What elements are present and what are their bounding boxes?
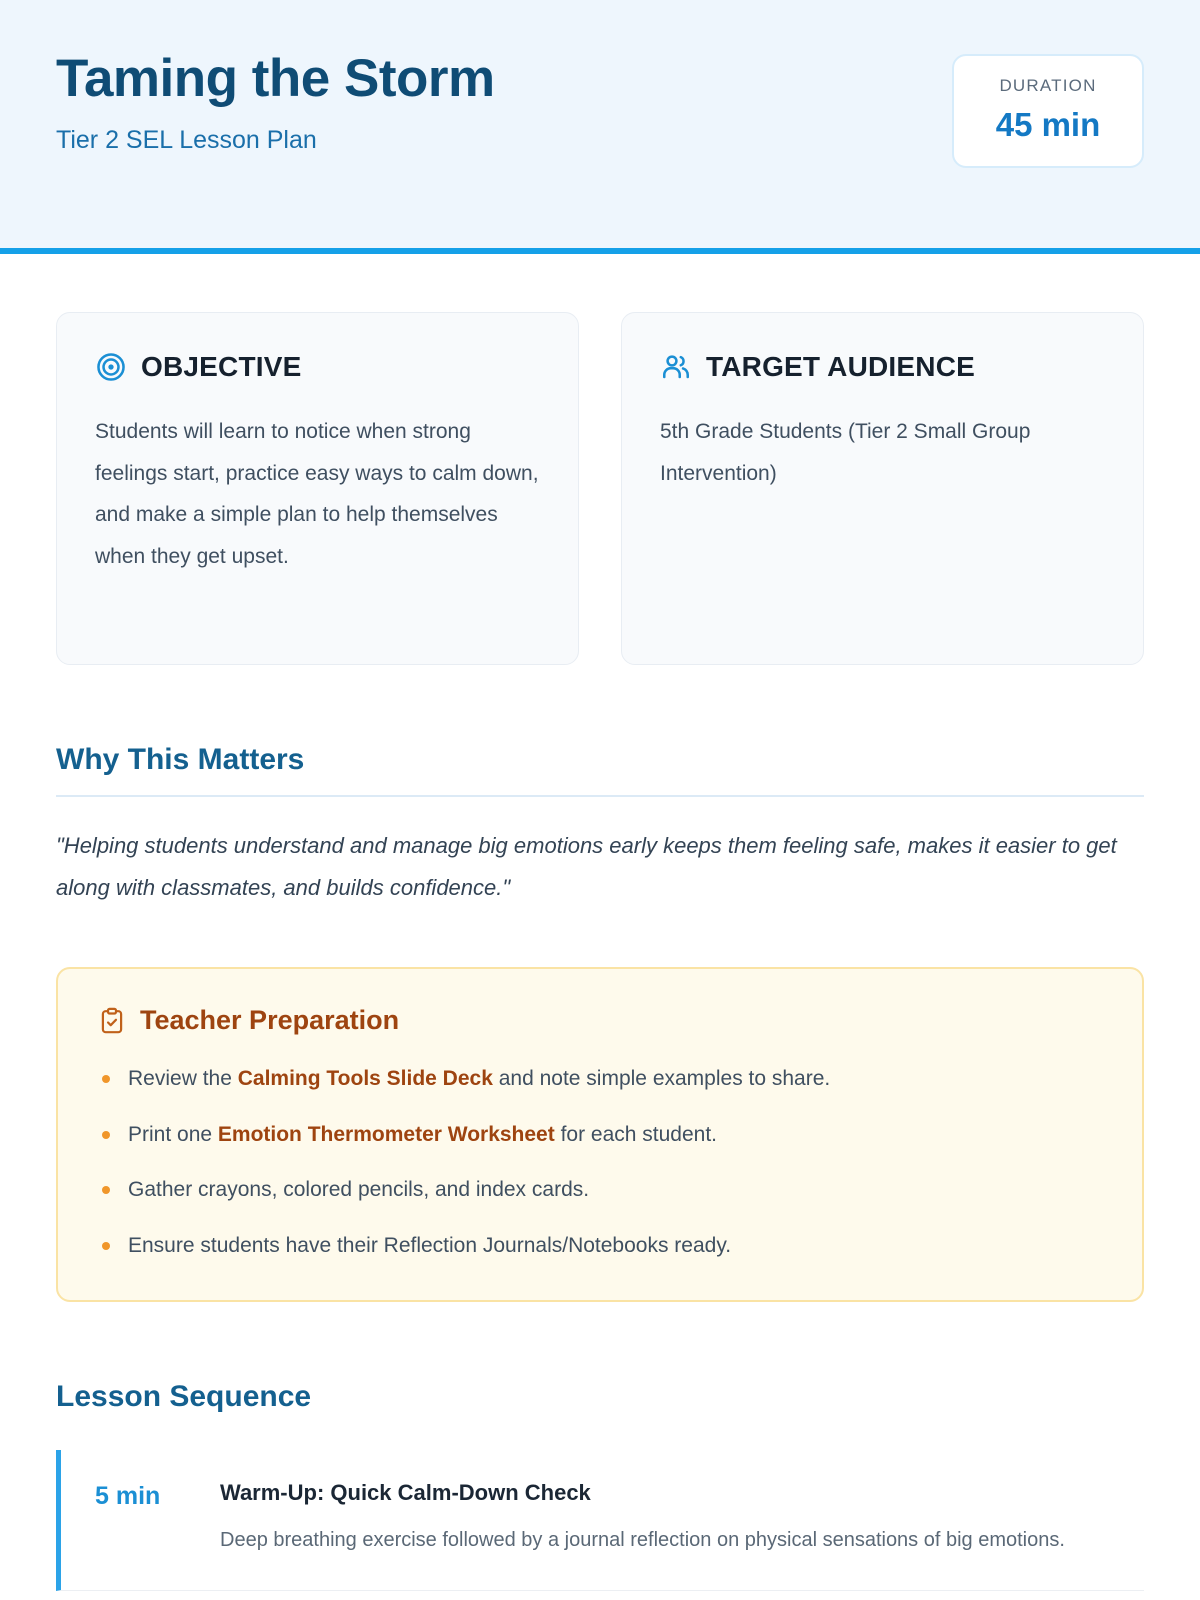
prep-item-strong: Calming Tools Slide Deck bbox=[238, 1067, 493, 1090]
objective-card-header: OBJECTIVE bbox=[95, 351, 540, 383]
lesson-sequence-list: 5 min Warm-Up: Quick Calm-Down Check Dee… bbox=[56, 1450, 1144, 1591]
lesson-sequence-description: Deep breathing exercise followed by a jo… bbox=[220, 1524, 1114, 1556]
list-item: Print one Emotion Thermometer Worksheet … bbox=[98, 1120, 1102, 1149]
why-this-matters-heading: Why This Matters bbox=[56, 743, 1144, 797]
users-icon bbox=[660, 351, 692, 383]
lesson-sequence-item: 5 min Warm-Up: Quick Calm-Down Check Dee… bbox=[56, 1450, 1144, 1591]
duration-value: 45 min bbox=[984, 106, 1112, 144]
prep-item-pre: Review the bbox=[128, 1067, 238, 1090]
objective-card-title: OBJECTIVE bbox=[141, 351, 302, 383]
target-icon bbox=[95, 351, 127, 383]
prep-item-pre: Print one bbox=[128, 1123, 218, 1146]
prep-item-pre: Ensure students have their Reflection Jo… bbox=[128, 1234, 731, 1257]
prep-item-strong: Emotion Thermometer Worksheet bbox=[218, 1123, 555, 1146]
header-text-group: Taming the Storm Tier 2 SEL Lesson Plan bbox=[56, 42, 495, 155]
why-this-matters-quote: "Helping students understand and manage … bbox=[56, 825, 1144, 909]
header-accent-rule bbox=[0, 248, 1200, 254]
prep-item-post: for each student. bbox=[555, 1123, 717, 1146]
teacher-preparation-list: Review the Calming Tools Slide Deck and … bbox=[98, 1064, 1102, 1260]
objective-card-body: Students will learn to notice when stron… bbox=[95, 411, 540, 577]
document-body: OBJECTIVE Students will learn to notice … bbox=[0, 312, 1200, 1591]
target-audience-card: TARGET AUDIENCE 5th Grade Students (Tier… bbox=[621, 312, 1144, 665]
objective-card: OBJECTIVE Students will learn to notice … bbox=[56, 312, 579, 665]
lesson-sequence-time: 5 min bbox=[95, 1480, 220, 1556]
lesson-sequence-heading: Lesson Sequence bbox=[56, 1380, 1144, 1414]
info-card-row: OBJECTIVE Students will learn to notice … bbox=[56, 312, 1144, 665]
duration-badge: DURATION 45 min bbox=[952, 54, 1144, 168]
list-item: Ensure students have their Reflection Jo… bbox=[98, 1231, 1102, 1260]
clipboard-check-icon bbox=[98, 1007, 126, 1035]
prep-item-post: and note simple examples to share. bbox=[493, 1067, 830, 1090]
list-item: Gather crayons, colored pencils, and ind… bbox=[98, 1175, 1102, 1204]
duration-label: DURATION bbox=[984, 76, 1112, 96]
target-audience-card-header: TARGET AUDIENCE bbox=[660, 351, 1105, 383]
page-subtitle: Tier 2 SEL Lesson Plan bbox=[56, 126, 495, 155]
teacher-preparation-box: Teacher Preparation Review the Calming T… bbox=[56, 967, 1144, 1302]
lesson-sequence-title: Warm-Up: Quick Calm-Down Check bbox=[220, 1480, 1114, 1506]
lesson-sequence-content: Warm-Up: Quick Calm-Down Check Deep brea… bbox=[220, 1480, 1144, 1556]
teacher-preparation-title: Teacher Preparation bbox=[140, 1005, 399, 1036]
list-item: Review the Calming Tools Slide Deck and … bbox=[98, 1064, 1102, 1093]
teacher-preparation-header: Teacher Preparation bbox=[98, 1005, 1102, 1036]
target-audience-card-title: TARGET AUDIENCE bbox=[706, 351, 975, 383]
prep-item-pre: Gather crayons, colored pencils, and ind… bbox=[128, 1178, 589, 1201]
target-audience-card-body: 5th Grade Students (Tier 2 Small Group I… bbox=[660, 411, 1105, 494]
document-header: Taming the Storm Tier 2 SEL Lesson Plan … bbox=[0, 0, 1200, 248]
page-title: Taming the Storm bbox=[56, 50, 495, 108]
